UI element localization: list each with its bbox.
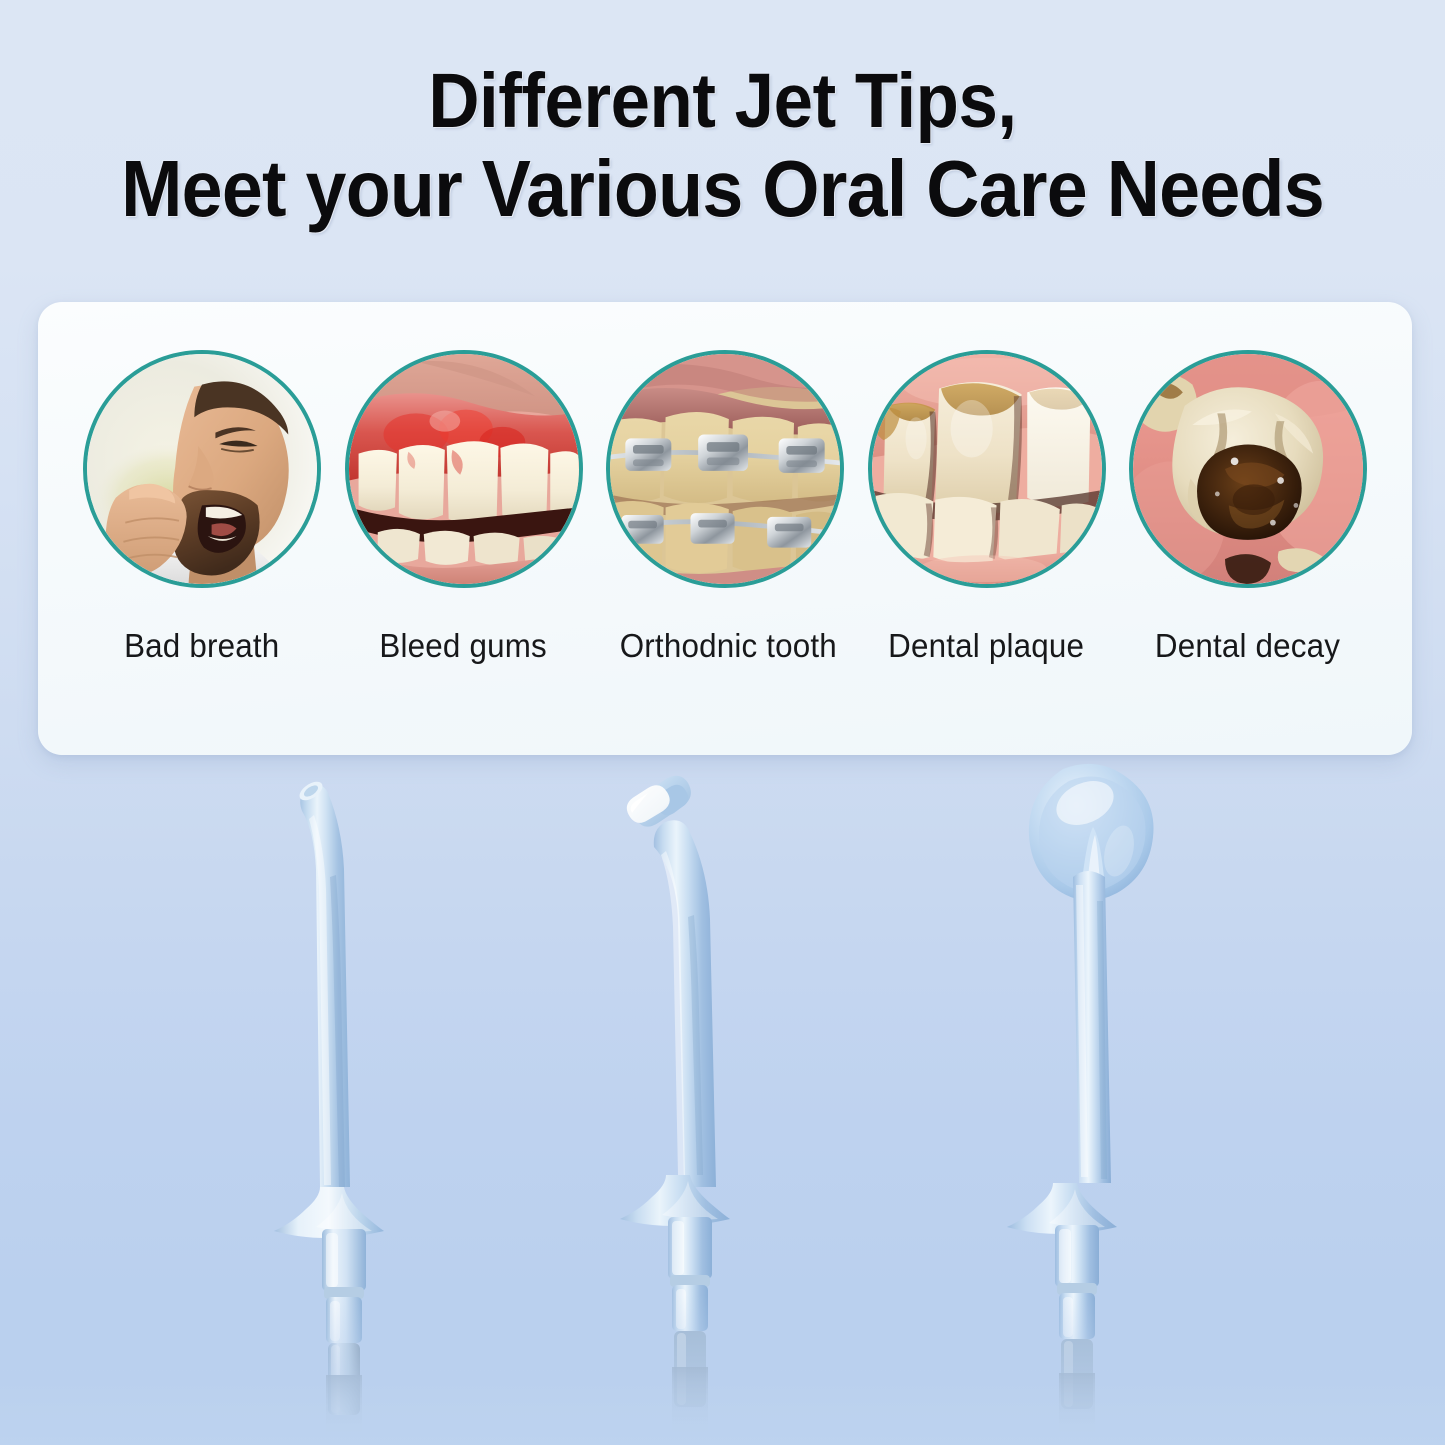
dental-plaque-photo [872, 354, 1102, 584]
headline-line-2: Meet your Various Oral Care Needs [58, 145, 1387, 232]
condition-label: Dental decay [1155, 628, 1340, 664]
condition-card-bad-breath[interactable]: Bad breath [80, 350, 324, 664]
tongue-cleaner-jet-tip[interactable] [985, 755, 1185, 1445]
bad-breath-photo [87, 354, 317, 584]
conditions-row: Bad breath [38, 302, 1412, 755]
condition-card-orthodontic[interactable]: Orthodnic tooth [603, 350, 847, 664]
condition-circle-frame [1129, 350, 1367, 588]
condition-label: Bleed gums [380, 628, 547, 664]
conditions-panel: Bad breath [38, 302, 1412, 755]
condition-circle-frame [606, 350, 844, 588]
condition-card-bleed-gums[interactable]: Bleed gums [342, 350, 586, 664]
condition-circle-frame [345, 350, 583, 588]
jet-tips-stage [0, 755, 1445, 1445]
condition-circle-frame [83, 350, 321, 588]
condition-circle-frame [868, 350, 1106, 588]
dental-decay-photo [1133, 354, 1363, 584]
condition-card-dental-decay[interactable]: Dental decay [1126, 350, 1370, 664]
condition-label: Dental plaque [889, 628, 1085, 664]
condition-label: Bad breath [124, 628, 279, 664]
condition-label: Orthodnic tooth [619, 628, 836, 664]
orthodontic-jet-tip[interactable] [608, 755, 798, 1445]
braces-photo [610, 354, 840, 584]
bleeding-gums-photo [349, 354, 579, 584]
classic-jet-tip[interactable] [268, 755, 458, 1445]
condition-card-dental-plaque[interactable]: Dental plaque [865, 350, 1109, 664]
headline-line-1: Different Jet Tips, [58, 58, 1387, 145]
page-title: Different Jet Tips, Meet your Various Or… [0, 58, 1445, 232]
